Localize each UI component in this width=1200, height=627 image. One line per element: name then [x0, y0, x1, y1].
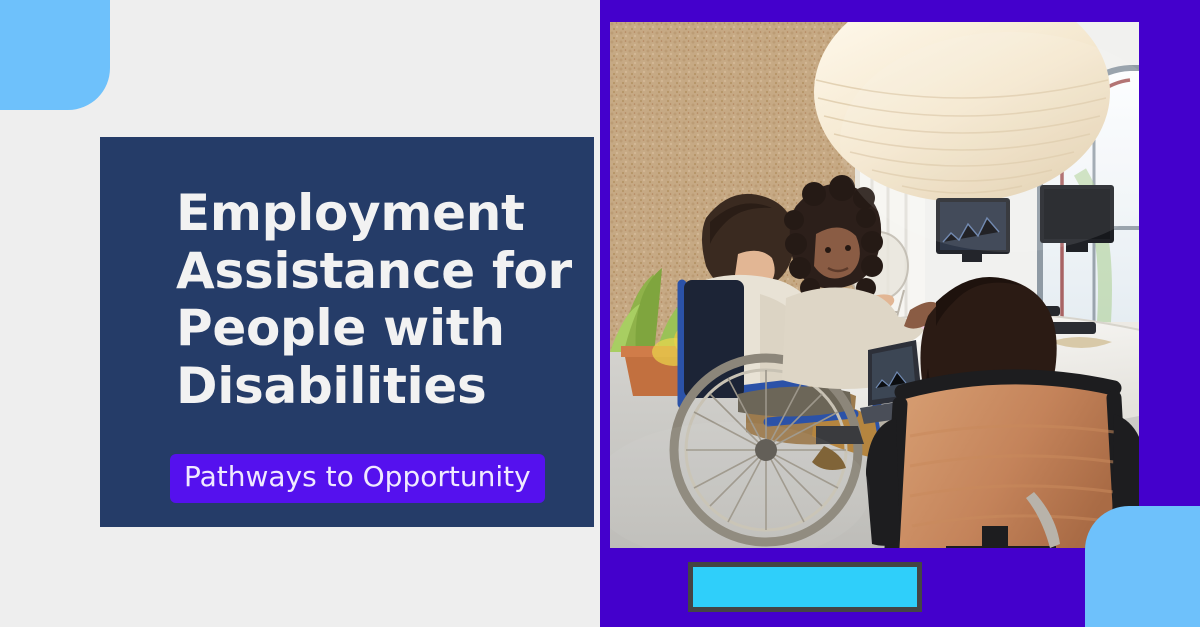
- headline-line-2: Assistance for: [176, 243, 596, 301]
- office-meeting-photo: [610, 22, 1139, 548]
- decoration-bottom-right-square: [1085, 506, 1200, 627]
- banner-root: Employment Assistance for People with Di…: [0, 0, 1200, 627]
- photo-panel: [600, 0, 1200, 627]
- subtitle-badge: Pathways to Opportunity: [170, 454, 545, 503]
- decoration-top-left-square: [0, 0, 110, 110]
- headline-line-3: People with: [176, 300, 596, 358]
- office-meeting-illustration: [610, 22, 1139, 548]
- headline-line-4: Disabilities: [176, 358, 596, 416]
- subtitle-text: Pathways to Opportunity: [184, 460, 531, 493]
- cyan-accent-bar: [688, 562, 922, 612]
- title-card: Employment Assistance for People with Di…: [100, 137, 594, 527]
- page-title: Employment Assistance for People with Di…: [176, 185, 596, 415]
- headline-line-1: Employment: [176, 185, 596, 243]
